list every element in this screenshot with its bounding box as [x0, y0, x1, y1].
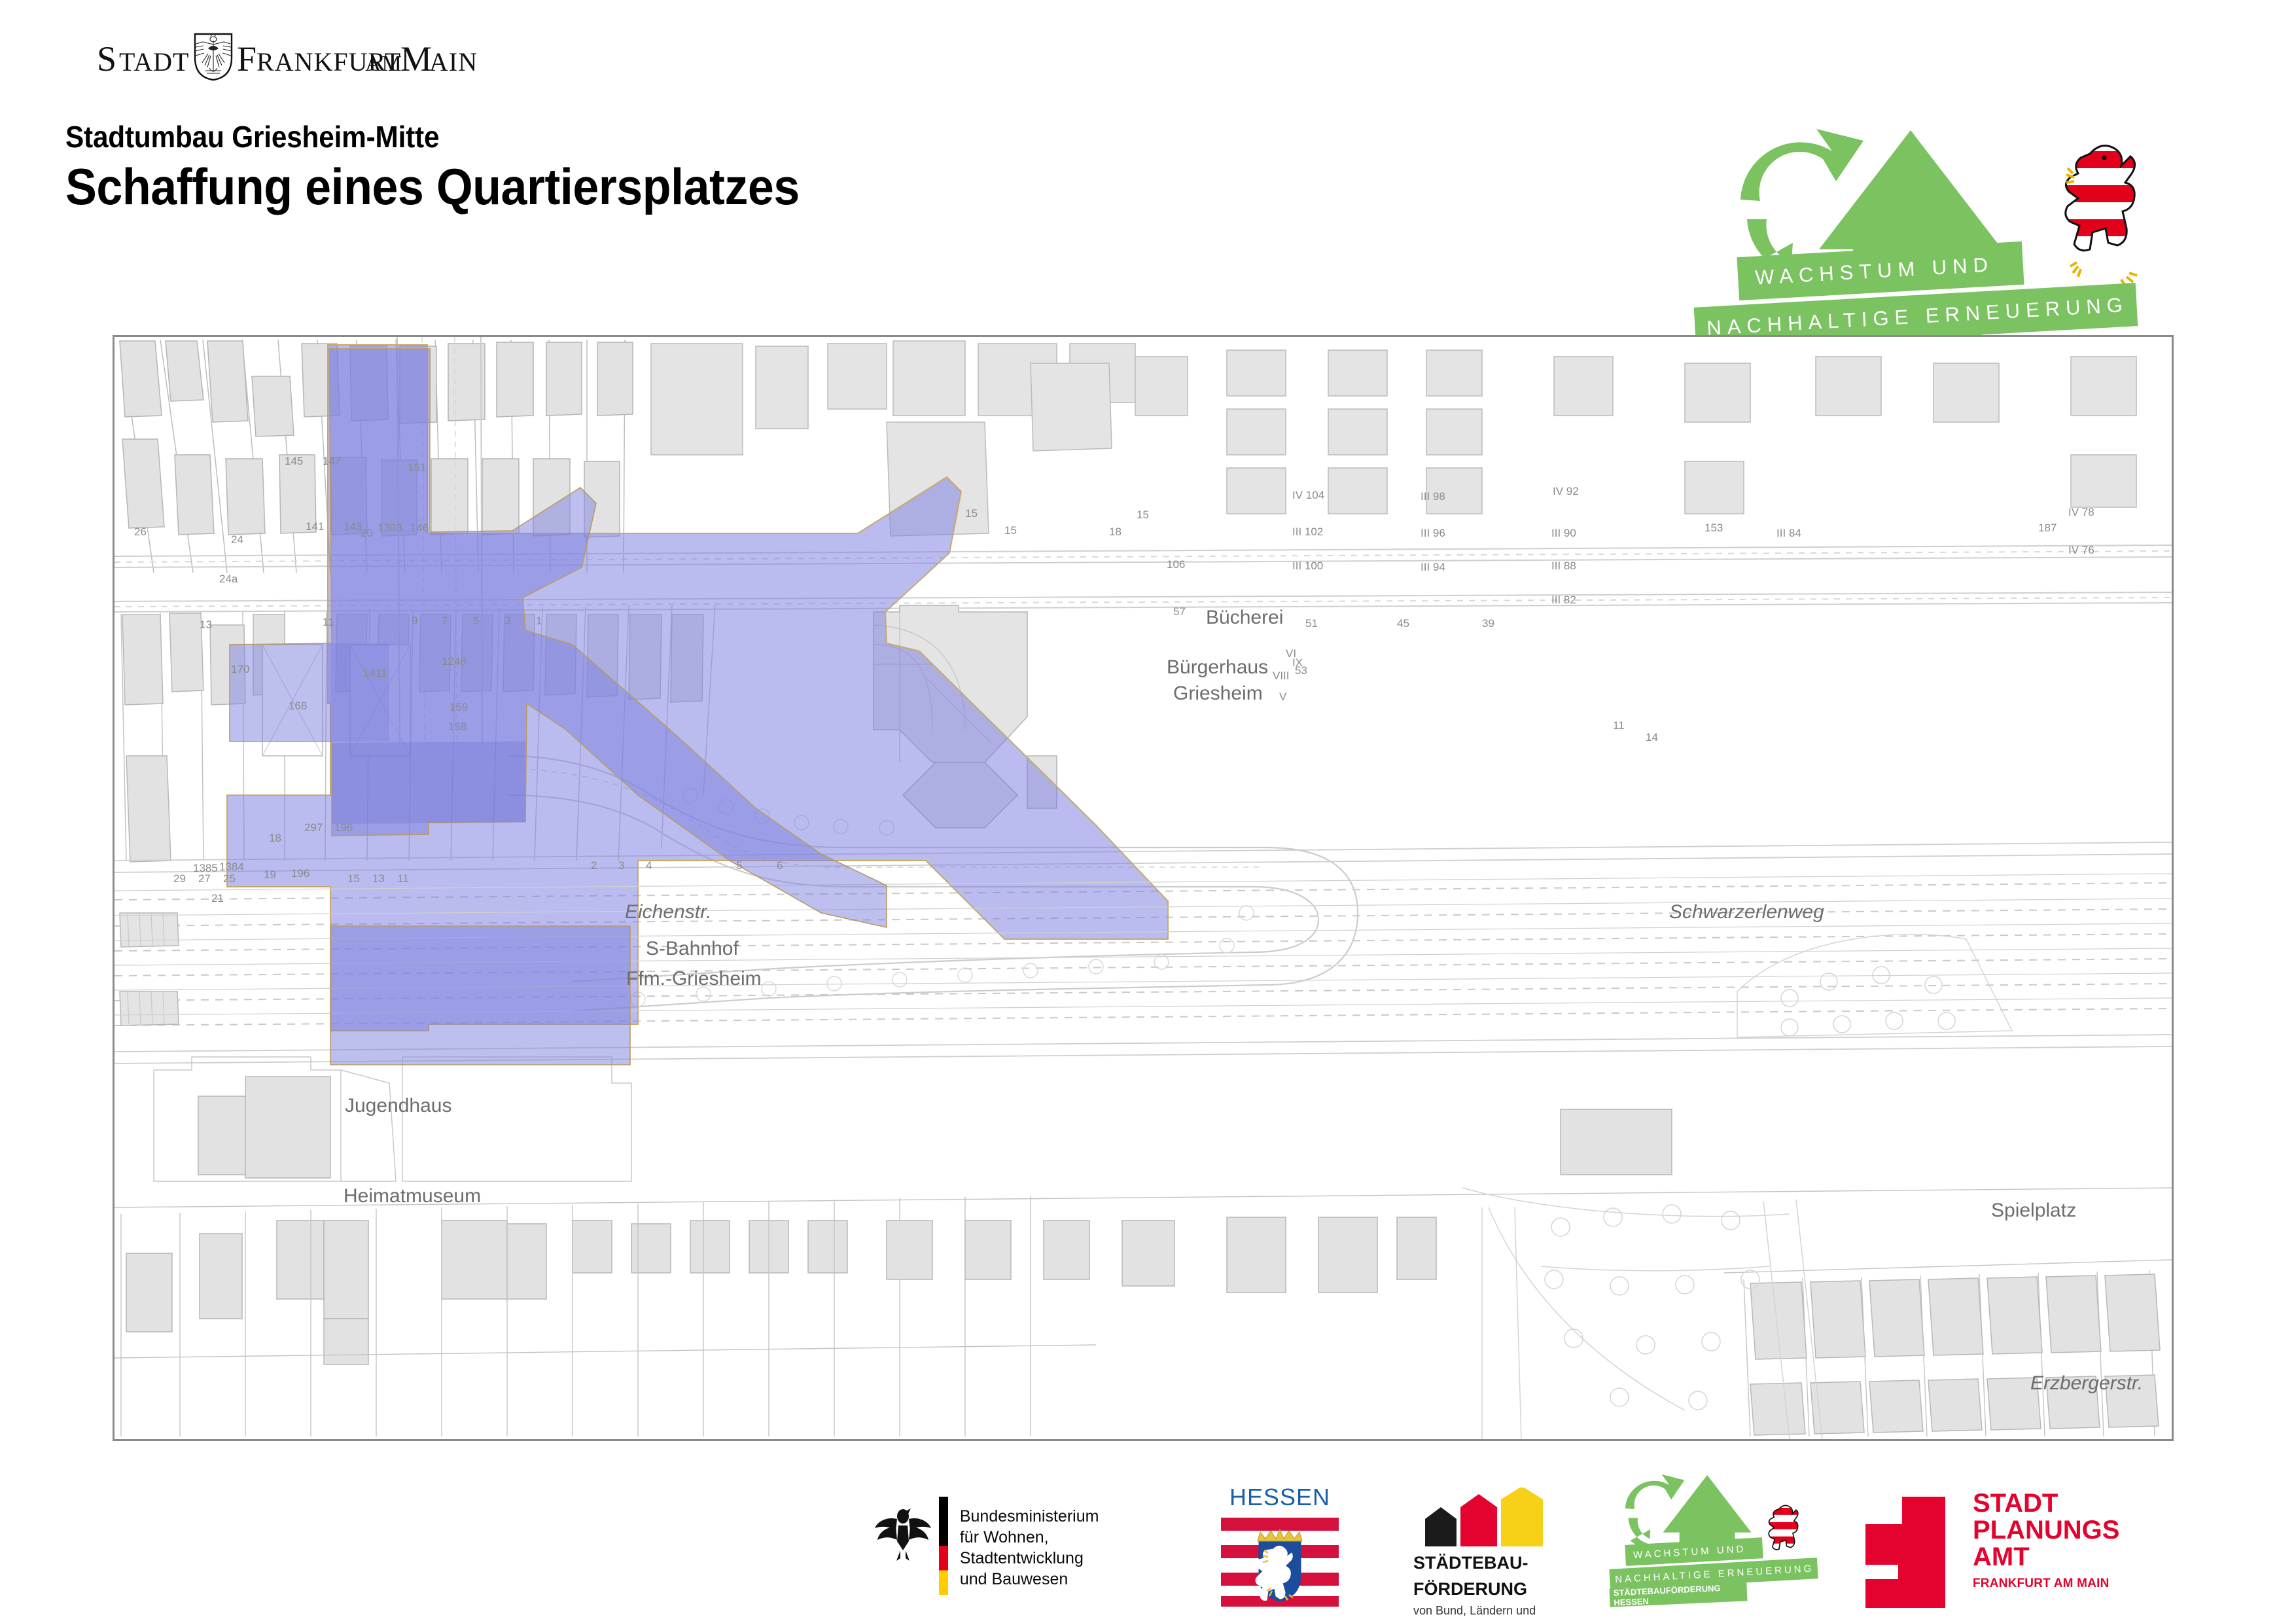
hessen-state-logo: HESSEN [1221, 1484, 1339, 1608]
parcel-number: III 84 [1776, 527, 1801, 540]
parcel-number: 15 [1137, 508, 1149, 522]
parcel-number: 1 [536, 615, 542, 628]
hessen-flag-icon [1221, 1515, 1339, 1607]
parcel-number: IV 104 [1292, 489, 1324, 502]
parcel-number: 25 [223, 872, 236, 885]
german-flag-bar [939, 1497, 948, 1595]
parcel-number: VIII [1273, 669, 1290, 683]
svg-text:TADT: TADT [119, 47, 189, 77]
spa-line2: PLANUNGS [1973, 1517, 2119, 1544]
spa-line1: STADT [1973, 1490, 2119, 1517]
parcel-number: 39 [1482, 617, 1494, 630]
parcel-number: 7 [442, 615, 448, 628]
parcel-number: 170 [231, 663, 249, 676]
parcel-number: 15 [1004, 524, 1017, 537]
map-street-eichenstr: Eichenstr. [625, 901, 711, 923]
parcel-number: 1411 [363, 667, 387, 680]
bmwsb-line3: und Bauwesen [960, 1569, 1174, 1590]
parcel-number: 9 [412, 615, 417, 628]
parcel-number: 11 [1613, 719, 1625, 732]
parcel-number: 18 [269, 832, 281, 845]
parcel-number: III 90 [1551, 527, 1576, 540]
map-label-heimatmuseum: Heimatmuseum [344, 1185, 481, 1207]
cadastral-map[interactable]: Bücherei Bürgerhaus Griesheim S-Bahnhof … [113, 335, 2174, 1441]
parcel-number: 5 [736, 859, 742, 872]
parcel-number: 297 [304, 821, 323, 834]
map-label-buecherei: Bücherei [1206, 607, 1283, 629]
parcel-number: III 82 [1551, 594, 1576, 607]
parcel-number: 141 [306, 520, 324, 533]
parcel-number: 196 [291, 867, 309, 880]
parcel-number: 1384 [219, 861, 244, 874]
project-area-highlight [115, 337, 2172, 1439]
parcel-number: 15 [965, 507, 978, 520]
parcel-number: IV 92 [1553, 485, 1579, 498]
parcel-number: III 96 [1421, 527, 1445, 540]
map-label-ffm-griesheim: Ffm.-Griesheim [626, 968, 762, 990]
spa-sub: FRANKFURT AM MAIN [1973, 1577, 2119, 1591]
parcel-number: III 102 [1292, 526, 1323, 539]
parcel-number: V [1279, 690, 1286, 704]
parcel-number: 146 [410, 522, 429, 535]
parcel-number: 57 [1173, 605, 1186, 618]
hessen-lion-icon [2048, 134, 2172, 291]
parcel-number: 13 [372, 872, 385, 885]
parcel-number: 27 [198, 872, 211, 885]
staedtebau-sub1: von Bund, Ländern und [1413, 1604, 1610, 1618]
svg-text:F: F [237, 39, 256, 79]
parcel-number: 51 [1305, 617, 1318, 630]
federal-eagle-icon [874, 1499, 932, 1565]
parcel-number: 143 [344, 520, 362, 533]
svg-text:AIN: AIN [429, 47, 478, 77]
parcel-number: 19 [264, 868, 276, 882]
hessen-wordmark: HESSEN [1221, 1484, 1339, 1511]
parcel-number: 5 [473, 615, 479, 628]
poster-page: S TADT F RANKFU [0, 0, 2296, 1623]
parcel-number: IX [1292, 656, 1303, 669]
parcel-number: 45 [1397, 617, 1409, 630]
stadt-frankfurt-am-main-wordmark: S TADT F RANKFU [97, 30, 516, 81]
bmwsb-line2: für Wohnen, Stadtentwicklung [960, 1527, 1174, 1569]
parcel-number: IV 78 [2068, 506, 2094, 519]
spa-line3: AMT [1973, 1544, 2119, 1571]
parcel-number: 106 [1167, 558, 1185, 571]
parcel-number: IV 76 [2068, 544, 2094, 557]
parcel-number: 4 [646, 859, 652, 872]
stadtplanungsamt-text: STADT PLANUNGS AMT FRANKFURT AM MAIN [1973, 1490, 2119, 1591]
map-street-erzbergerstr: Erzbergerstr. [2030, 1372, 2143, 1395]
parcel-number: 13 [200, 618, 212, 632]
three-houses-icon [1419, 1488, 1549, 1546]
svg-text:M: M [400, 39, 432, 79]
parcel-number: III 98 [1421, 490, 1445, 503]
parcel-number: 151 [408, 461, 426, 474]
bmwsb-logo: Bundesministerium für Wohnen, Stadtentwi… [874, 1490, 1174, 1601]
parcel-number: 147 [323, 455, 341, 468]
staedtebau-line2: FÖRDERUNG [1413, 1579, 1610, 1599]
staedtebau-line1: STÄDTEBAU- [1413, 1553, 1610, 1573]
map-label-s-bahnhof: S-Bahnhof [646, 938, 739, 960]
stadtplanungsamt-logo: STADT PLANUNGS AMT FRANKFURT AM MAIN [1862, 1490, 2176, 1608]
parcel-number: 1248 [442, 655, 467, 668]
parcel-number: 1303 [378, 522, 402, 535]
parcel-number: 159 [450, 701, 468, 714]
parcel-number: 3 [618, 859, 624, 872]
parcel-number: III 94 [1421, 561, 1445, 574]
poster-subtitle: Stadtumbau Griesheim-Mitte [65, 119, 439, 154]
parcel-number: 21 [211, 892, 224, 905]
parcel-number: 24 [231, 533, 243, 546]
frankfurt-eagle-shield-icon [195, 34, 232, 80]
poster-title: Schaffung eines Quartiersplatzes [65, 157, 800, 217]
parcel-number: 24a [219, 573, 238, 586]
map-label-buergerhaus: Bürgerhaus [1167, 656, 1268, 679]
parcel-number: 158 [448, 721, 467, 734]
map-label-jugendhaus: Jugendhaus [345, 1095, 451, 1117]
parcel-number: 187 [2038, 522, 2057, 535]
parcel-number: 11 [397, 872, 409, 885]
parcel-number: 145 [285, 455, 303, 468]
parcel-number: 15 [347, 872, 360, 885]
parcel-number: 196 [334, 821, 353, 834]
parcel-number: 29 [173, 872, 186, 885]
svg-text:S: S [97, 39, 116, 79]
footer-logos: Bundesministerium für Wohnen, Stadtentwi… [0, 1476, 2296, 1623]
parcel-number: III 88 [1551, 560, 1576, 573]
parcel-number: III 100 [1292, 560, 1323, 573]
parcel-number: 3 [504, 615, 510, 628]
bmwsb-line1: Bundesministerium [960, 1506, 1174, 1527]
map-canvas: Bücherei Bürgerhaus Griesheim S-Bahnhof … [115, 337, 2172, 1439]
parcel-number: 6 [777, 859, 783, 872]
map-label-spielplatz: Spielplatz [1991, 1200, 2076, 1222]
map-street-schwarzerlenweg: Schwarzerlenweg [1669, 901, 1824, 923]
staedtebaufoerderung-logo: STÄDTEBAU- FÖRDERUNG von Bund, Ländern u… [1413, 1488, 1610, 1609]
parcel-number: 168 [289, 700, 307, 713]
bmwsb-text: Bundesministerium für Wohnen, Stadtentwi… [960, 1506, 1174, 1601]
parcel-number: 11 [323, 616, 334, 629]
parcel-number: 153 [1704, 522, 1723, 535]
parcel-number: 2 [591, 859, 597, 872]
program-logo-small: WACHSTUM UND NACHHALTIGE ERNEUERUNG STÄD… [1610, 1489, 1845, 1610]
map-label-griesheim: Griesheim [1173, 683, 1263, 705]
stadtplanungsamt-mark-icon [1862, 1493, 1961, 1592]
parcel-number: 26 [134, 526, 147, 539]
svg-text:AM: AM [365, 52, 402, 76]
parcel-number: 14 [1646, 731, 1658, 744]
parcel-number: 20 [361, 527, 373, 540]
city-of-frankfurt-logo: S TADT F RANKFU [97, 34, 516, 81]
parcel-number: 18 [1109, 526, 1122, 539]
